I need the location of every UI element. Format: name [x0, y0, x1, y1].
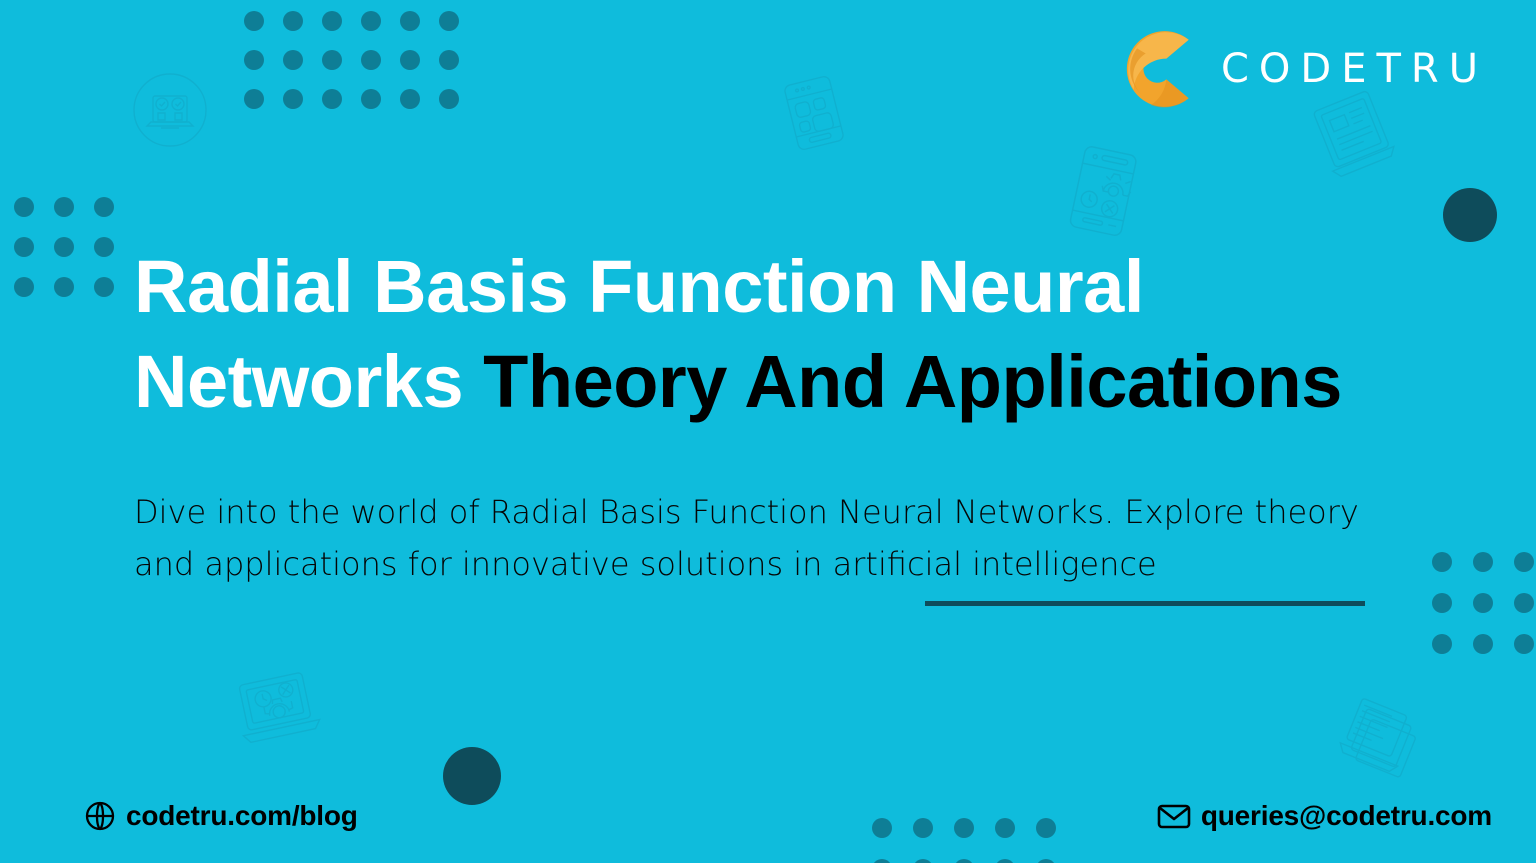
bottom-left-circle: [443, 747, 501, 805]
top-dot-grid: [244, 0, 459, 109]
content-block: Radial Basis Function Neural Networks Th…: [134, 240, 1394, 591]
brand-logo[interactable]: CODETRU: [1113, 26, 1488, 112]
stacked-docs-outline-icon: [1325, 685, 1437, 797]
mobile-settings-outline-icon: [1046, 135, 1160, 249]
page-title: Radial Basis Function Neural Networks Th…: [134, 240, 1359, 429]
email-link[interactable]: queries@codetru.com: [1157, 800, 1492, 832]
codetru-c-mark-icon: [1113, 26, 1199, 112]
bottom-dot-grid: [872, 818, 1056, 863]
envelope-icon: [1157, 801, 1191, 831]
poster-canvas: CODETRU Radial Basis Function Neural Net…: [0, 0, 1536, 863]
qa-laptop-outline-icon: [131, 71, 209, 149]
laptop-gear-outline-icon: [225, 658, 332, 765]
website-label: codetru.com/blog: [126, 800, 358, 832]
accent-rule: [925, 601, 1365, 606]
mobile-apps-outline-icon: [767, 66, 862, 161]
page-title-accent: Theory And Applications: [483, 340, 1342, 423]
email-label: queries@codetru.com: [1201, 800, 1492, 832]
top-right-circle: [1443, 188, 1497, 242]
website-link[interactable]: codetru.com/blog: [84, 800, 358, 832]
globe-icon: [84, 800, 116, 832]
brand-name: CODETRU: [1221, 49, 1488, 89]
right-dot-grid: [1432, 552, 1534, 654]
page-subtitle: Dive into the world of Radial Basis Func…: [134, 487, 1394, 591]
left-dot-grid: [14, 197, 114, 297]
